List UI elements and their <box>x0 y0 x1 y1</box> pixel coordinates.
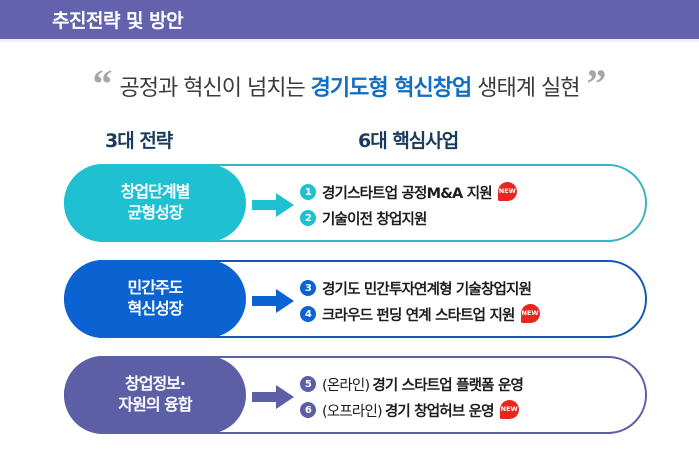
list-item[interactable]: 4크라우드 펀딩 연계 스타트업 지원NEW <box>300 304 540 325</box>
header-divider <box>0 39 699 42</box>
arrow-right-icon <box>252 385 294 409</box>
page-title: 추진전략 및 방안 <box>52 6 183 33</box>
slide-header-bar: 추진전략 및 방안 <box>0 0 699 39</box>
strategy-label-line2: 자원의 융합 <box>118 395 191 416</box>
item-number-badge: 5 <box>300 376 316 392</box>
strategy-pill[interactable]: 민간주도혁신성장 <box>64 260 246 338</box>
strategy-label-line2: 균형성장 <box>128 203 183 224</box>
strategy-row: 창업정보·자원의 융합5(온라인)경기 스타트업 플랫폼 운영6(오프라인)경기… <box>64 356 647 434</box>
arrow-right-icon <box>252 289 294 313</box>
strategy-pill[interactable]: 창업정보·자원의 융합 <box>64 356 246 434</box>
item-label: 경기스타트업 공정M&A 지원 <box>322 182 492 203</box>
project-list: 3경기도 민간투자연계형 기술창업지원4크라우드 펀딩 연계 스타트업 지원NE… <box>300 262 540 340</box>
item-number-badge: 2 <box>300 210 316 226</box>
vision-accent: 경기도형 혁신창업 <box>311 76 472 101</box>
item-number-badge: 6 <box>300 402 316 418</box>
quote-close-icon: ” <box>586 64 606 104</box>
project-list: 1경기스타트업 공정M&A 지원NEW2기술이전 창업지원 <box>300 166 517 244</box>
vision-lead: 공정과 혁신이 넘치는 <box>120 76 311 101</box>
new-badge: NEW <box>521 304 540 323</box>
strategy-label-line1: 민간주도 <box>128 278 183 299</box>
list-item[interactable]: 5(온라인)경기 스타트업 플랫폼 운영 <box>300 374 523 395</box>
list-item[interactable]: 2기술이전 창업지원 <box>300 208 517 229</box>
strategy-label-line1: 창업정보· <box>125 374 185 395</box>
arrow-right-icon <box>252 193 294 217</box>
strategy-rows: 창업단계별균형성장1경기스타트업 공정M&A 지원NEW2기술이전 창업지원민간… <box>0 164 699 452</box>
new-badge: NEW <box>500 400 519 419</box>
item-number-badge: 1 <box>300 184 316 200</box>
new-badge: NEW <box>498 182 517 201</box>
list-item[interactable]: 1경기스타트업 공정M&A 지원NEW <box>300 182 517 203</box>
item-number-badge: 4 <box>300 306 316 322</box>
column-headings: 3대 전략 6대 핵심사업 <box>0 126 699 154</box>
list-item[interactable]: 3경기도 민간투자연계형 기술창업지원 <box>300 278 540 299</box>
item-label: 경기 창업허브 운영 <box>385 400 494 421</box>
strategies-column-heading: 3대 전략 <box>105 126 172 153</box>
strategy-row: 창업단계별균형성장1경기스타트업 공정M&A 지원NEW2기술이전 창업지원 <box>64 164 647 242</box>
strategy-label-line1: 창업단계별 <box>121 182 190 203</box>
strategy-row: 민간주도혁신성장3경기도 민간투자연계형 기술창업지원4크라우드 펀딩 연계 스… <box>64 260 647 338</box>
strategy-pill[interactable]: 창업단계별균형성장 <box>64 164 246 242</box>
item-label: 기술이전 창업지원 <box>322 208 427 229</box>
project-list: 5(온라인)경기 스타트업 플랫폼 운영6(오프라인)경기 창업허브 운영NEW <box>300 358 523 436</box>
item-number-badge: 3 <box>300 280 316 296</box>
item-label: 크라우드 펀딩 연계 스타트업 지원 <box>322 304 515 325</box>
list-item[interactable]: 6(오프라인)경기 창업허브 운영NEW <box>300 400 523 421</box>
item-label: 경기도 민간투자연계형 기술창업지원 <box>322 278 531 299</box>
projects-column-heading: 6대 핵심사업 <box>358 126 458 153</box>
strategy-label-line2: 혁신성장 <box>128 299 183 320</box>
vision-statement: “ 공정과 혁신이 넘치는 경기도형 혁신창업 생태계 실현 ” <box>0 62 699 110</box>
vision-tail: 생태계 실현 <box>471 76 579 101</box>
vision-text: 공정과 혁신이 넘치는 경기도형 혁신창업 생태계 실현 <box>120 70 580 102</box>
item-channel-prefix: (오프라인) <box>322 400 382 421</box>
item-channel-prefix: (온라인) <box>322 374 369 395</box>
quote-open-icon: “ <box>93 64 113 104</box>
item-label: 경기 스타트업 플랫폼 운영 <box>372 374 523 395</box>
